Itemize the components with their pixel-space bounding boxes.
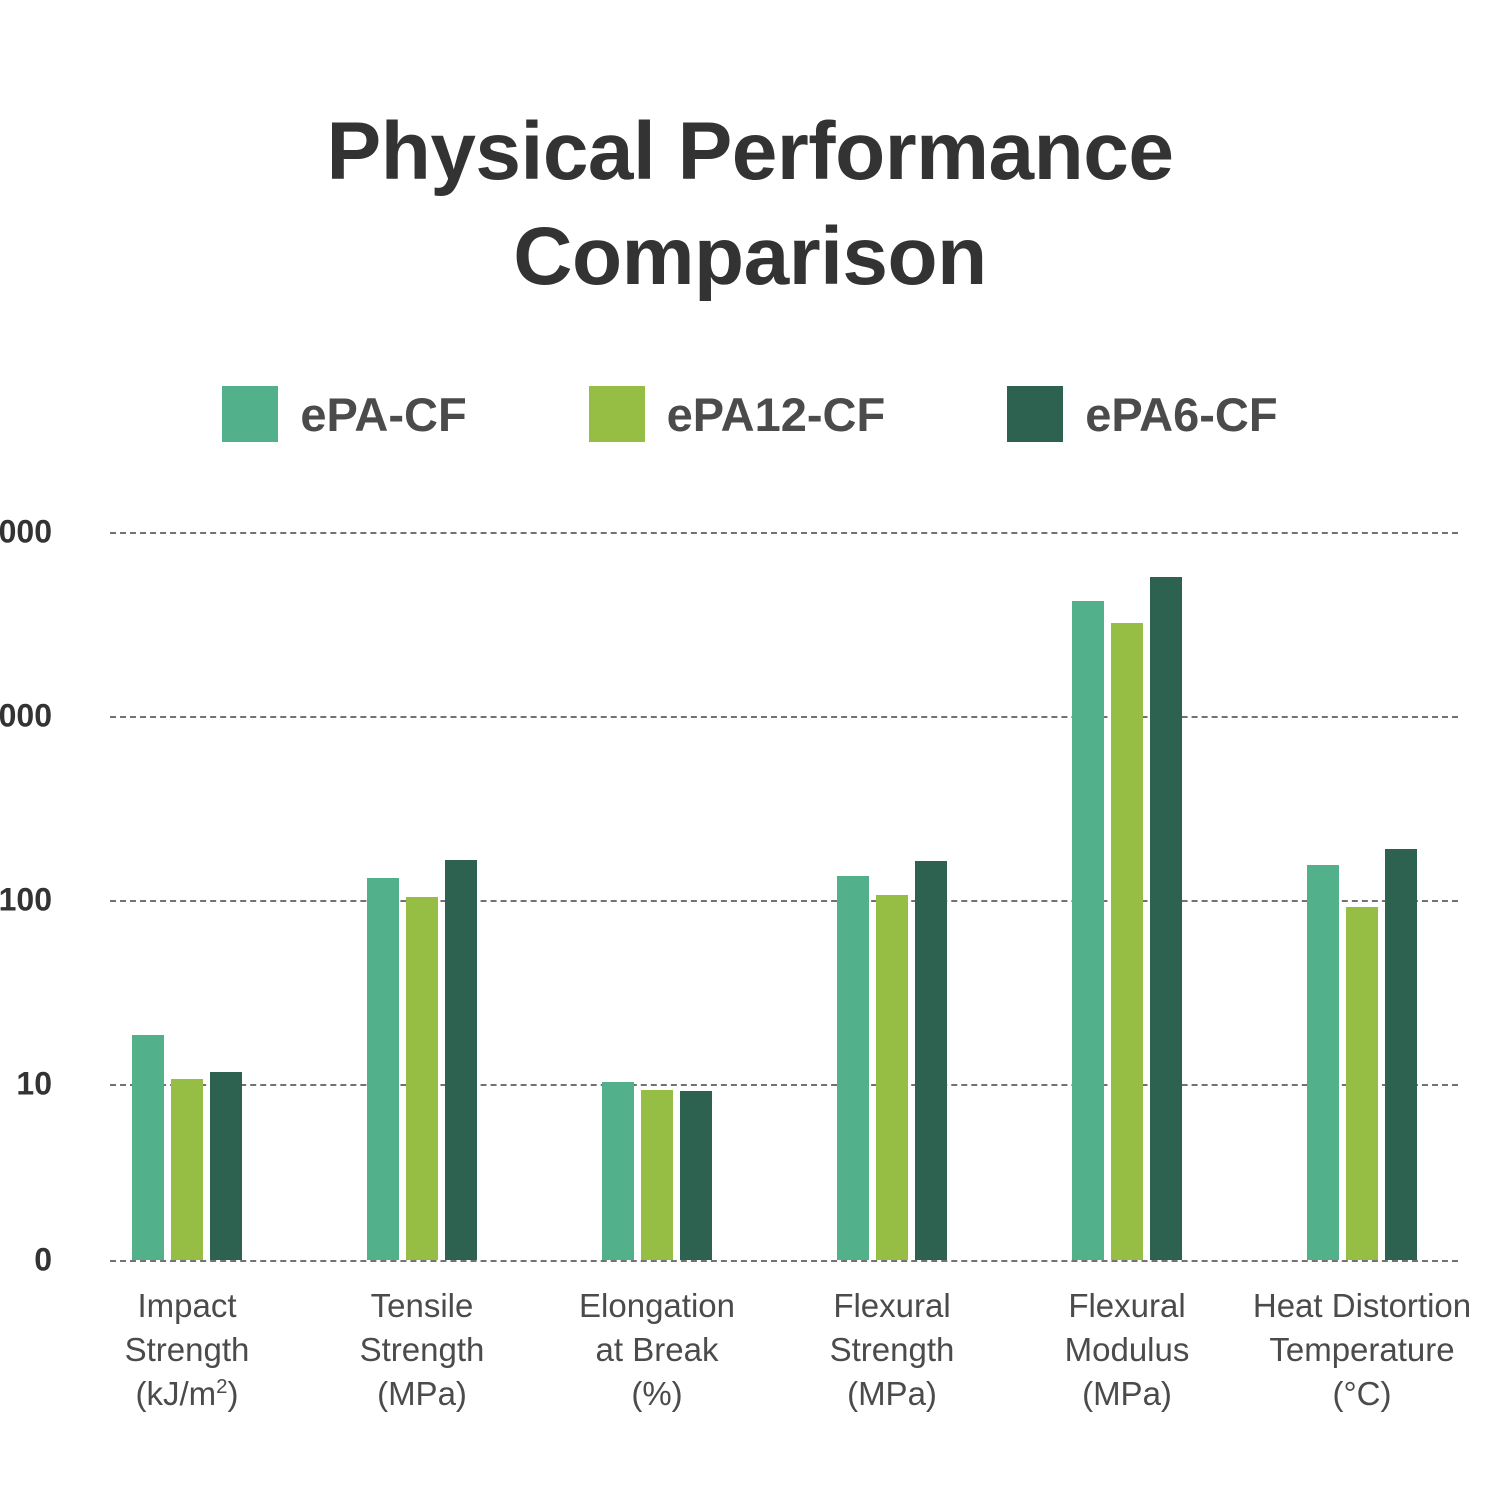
- bar[interactable]: [210, 1072, 242, 1260]
- bar[interactable]: [876, 895, 908, 1260]
- x-axis-label-5: Heat DistortionTemperature(°C): [1247, 1284, 1477, 1416]
- legend-swatch-icon: [1007, 386, 1063, 442]
- y-axis-tick-label: 1000: [0, 698, 52, 735]
- legend-swatch-icon: [589, 386, 645, 442]
- legend-item-epa6-cf[interactable]: ePA6-CF: [1007, 386, 1277, 442]
- chart-container: Physical Performance Comparison ePA-CFeP…: [0, 0, 1500, 1500]
- bar[interactable]: [915, 861, 947, 1260]
- y-axis-tick-label: 10000: [0, 514, 52, 551]
- legend-item-label: ePA6-CF: [1085, 387, 1277, 442]
- legend-item-epa12-cf[interactable]: ePA12-CF: [589, 386, 886, 442]
- gridline-10000: [110, 532, 1458, 534]
- bar[interactable]: [171, 1079, 203, 1260]
- legend-item-label: ePA-CF: [300, 387, 466, 442]
- y-axis-tick-label: 100: [0, 882, 52, 919]
- gridline-1000: [110, 716, 1458, 718]
- bar[interactable]: [1346, 907, 1378, 1260]
- bar[interactable]: [1385, 849, 1417, 1260]
- legend-item-label: ePA12-CF: [667, 387, 886, 442]
- bar[interactable]: [837, 876, 869, 1260]
- gridline-0: [110, 1260, 1458, 1262]
- x-axis-label-2: Elongationat Break(%): [542, 1284, 772, 1416]
- gridline-10: [110, 1084, 1458, 1086]
- bar[interactable]: [367, 878, 399, 1260]
- x-axis-label-0: ImpactStrength(kJ/m2): [72, 1284, 302, 1416]
- bar[interactable]: [1307, 865, 1339, 1260]
- bar[interactable]: [602, 1082, 634, 1260]
- bar[interactable]: [1150, 577, 1182, 1260]
- bar[interactable]: [1072, 601, 1104, 1260]
- bar[interactable]: [406, 897, 438, 1260]
- bar[interactable]: [1111, 623, 1143, 1260]
- chart-title: Physical Performance Comparison: [150, 100, 1350, 310]
- legend-item-epa-cf[interactable]: ePA-CF: [222, 386, 466, 442]
- bar[interactable]: [445, 860, 477, 1260]
- plot-area: 100001000100100: [110, 532, 1458, 1260]
- chart-title-line-2: Comparison: [150, 205, 1350, 310]
- bar[interactable]: [132, 1035, 164, 1260]
- x-axis-label-4: FlexuralModulus(MPa): [1012, 1284, 1242, 1416]
- x-axis-label-1: TensileStrength(MPa): [307, 1284, 537, 1416]
- bar[interactable]: [680, 1091, 712, 1260]
- y-axis-tick-label: 0: [0, 1242, 52, 1279]
- y-axis-tick-label: 10: [0, 1066, 52, 1103]
- chart-legend: ePA-CFePA12-CFePA6-CF: [0, 386, 1500, 442]
- x-axis-label-3: FlexuralStrength(MPa): [777, 1284, 1007, 1416]
- gridline-100: [110, 900, 1458, 902]
- chart-title-line-1: Physical Performance: [150, 100, 1350, 205]
- bar[interactable]: [641, 1090, 673, 1260]
- legend-swatch-icon: [222, 386, 278, 442]
